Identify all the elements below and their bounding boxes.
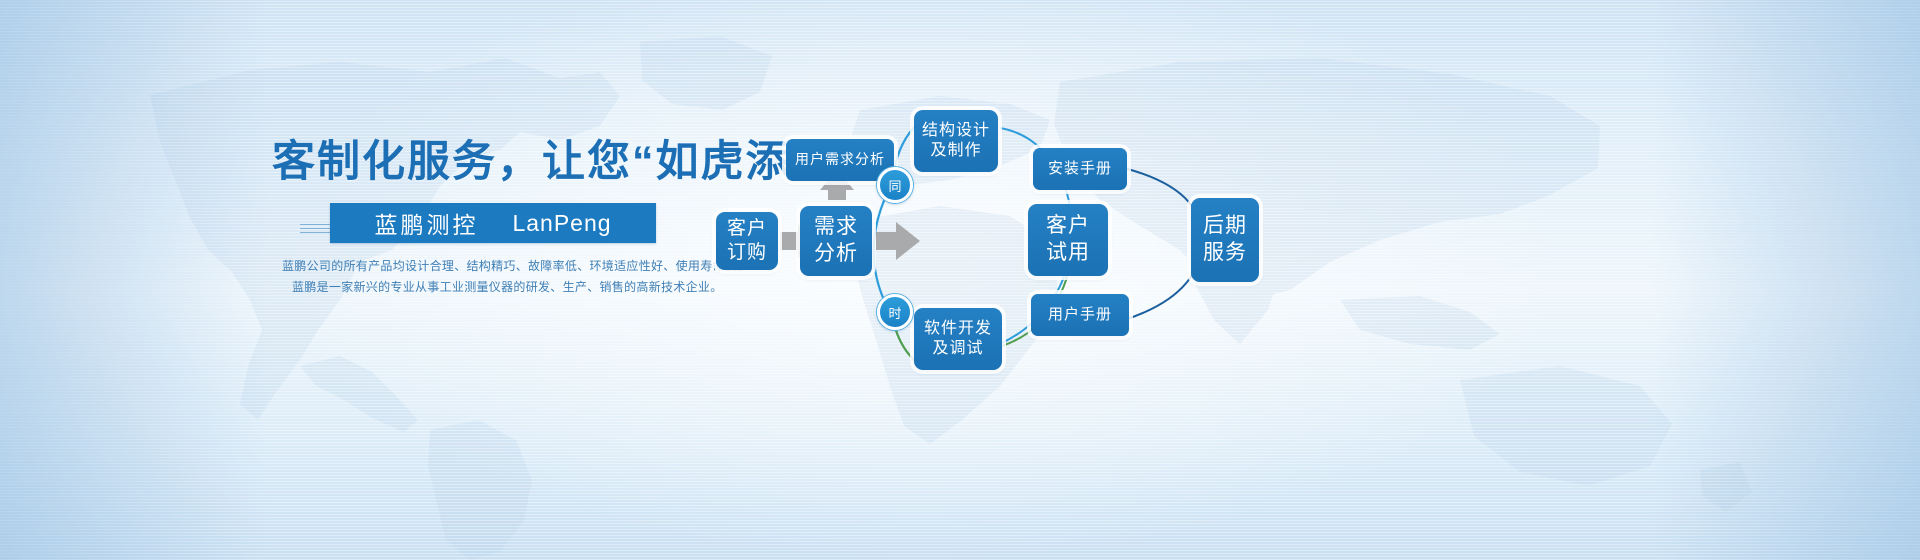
node-software-development[interactable]: 软件开发 及调试 <box>914 308 1002 370</box>
brand-name-cn: 蓝鹏测控 <box>374 206 478 240</box>
badge-sync-bottom-label: 时 <box>888 303 901 322</box>
node-user-manual[interactable]: 用户手册 <box>1031 294 1129 336</box>
node-structure-design[interactable]: 结构设计 及制作 <box>914 110 998 172</box>
node-customer-trial-line2: 试用 <box>1046 240 1090 267</box>
node-structure-design-line2: 及制作 <box>922 141 990 161</box>
node-customer-trial[interactable]: 客户 试用 <box>1028 204 1108 276</box>
description-block: 蓝鹏公司的所有产品均设计合理、结构精巧、故障率低、环境适应性好、使用寿命长。 蓝… <box>282 256 682 298</box>
node-user-requirement-label: 用户需求分析 <box>795 151 885 169</box>
node-after-service-line1: 后期 <box>1203 213 1247 240</box>
brand-bar: 蓝鹏测控 LanPeng <box>330 203 656 243</box>
node-demand-analysis-line1: 需求 <box>814 214 858 241</box>
node-user-requirement[interactable]: 用户需求分析 <box>786 139 894 181</box>
badge-sync-bottom[interactable]: 时 <box>877 294 913 330</box>
node-install-manual-label: 安装手册 <box>1048 159 1112 178</box>
node-customer-trial-line1: 客户 <box>1046 213 1090 240</box>
node-after-service[interactable]: 后期 服务 <box>1191 198 1259 282</box>
brand-name-en: LanPeng <box>512 210 611 237</box>
node-install-manual[interactable]: 安装手册 <box>1033 148 1127 190</box>
badge-sync-top-label: 同 <box>888 176 901 195</box>
node-demand-analysis-line2: 分析 <box>814 241 858 268</box>
node-software-development-line1: 软件开发 <box>924 319 992 339</box>
node-user-manual-label: 用户手册 <box>1048 305 1112 324</box>
process-flow-diagram: 用户需求分析 客户 订购 需求 分析 结构设计 及制作 软件开发 及调试 <box>700 0 1920 560</box>
node-software-development-line2: 及调试 <box>924 339 992 359</box>
node-demand-analysis[interactable]: 需求 分析 <box>800 206 872 276</box>
node-customer-order-line2: 订购 <box>727 241 767 265</box>
banner-root: 客制化服务，让您“如虎添翼” 蓝鹏测控 LanPeng 蓝鹏公司的所有产品均设计… <box>0 0 1920 560</box>
description-line-2: 蓝鹏是一家新兴的专业从事工业测量仪器的研发、生产、销售的高新技术企业。 <box>282 277 682 298</box>
node-structure-design-line1: 结构设计 <box>922 121 990 141</box>
node-after-service-line2: 服务 <box>1203 240 1247 267</box>
description-line-1: 蓝鹏公司的所有产品均设计合理、结构精巧、故障率低、环境适应性好、使用寿命长。 <box>282 256 682 277</box>
badge-sync-top[interactable]: 同 <box>877 167 913 203</box>
node-customer-order-line1: 客户 <box>727 217 767 241</box>
node-customer-order[interactable]: 客户 订购 <box>716 212 778 270</box>
